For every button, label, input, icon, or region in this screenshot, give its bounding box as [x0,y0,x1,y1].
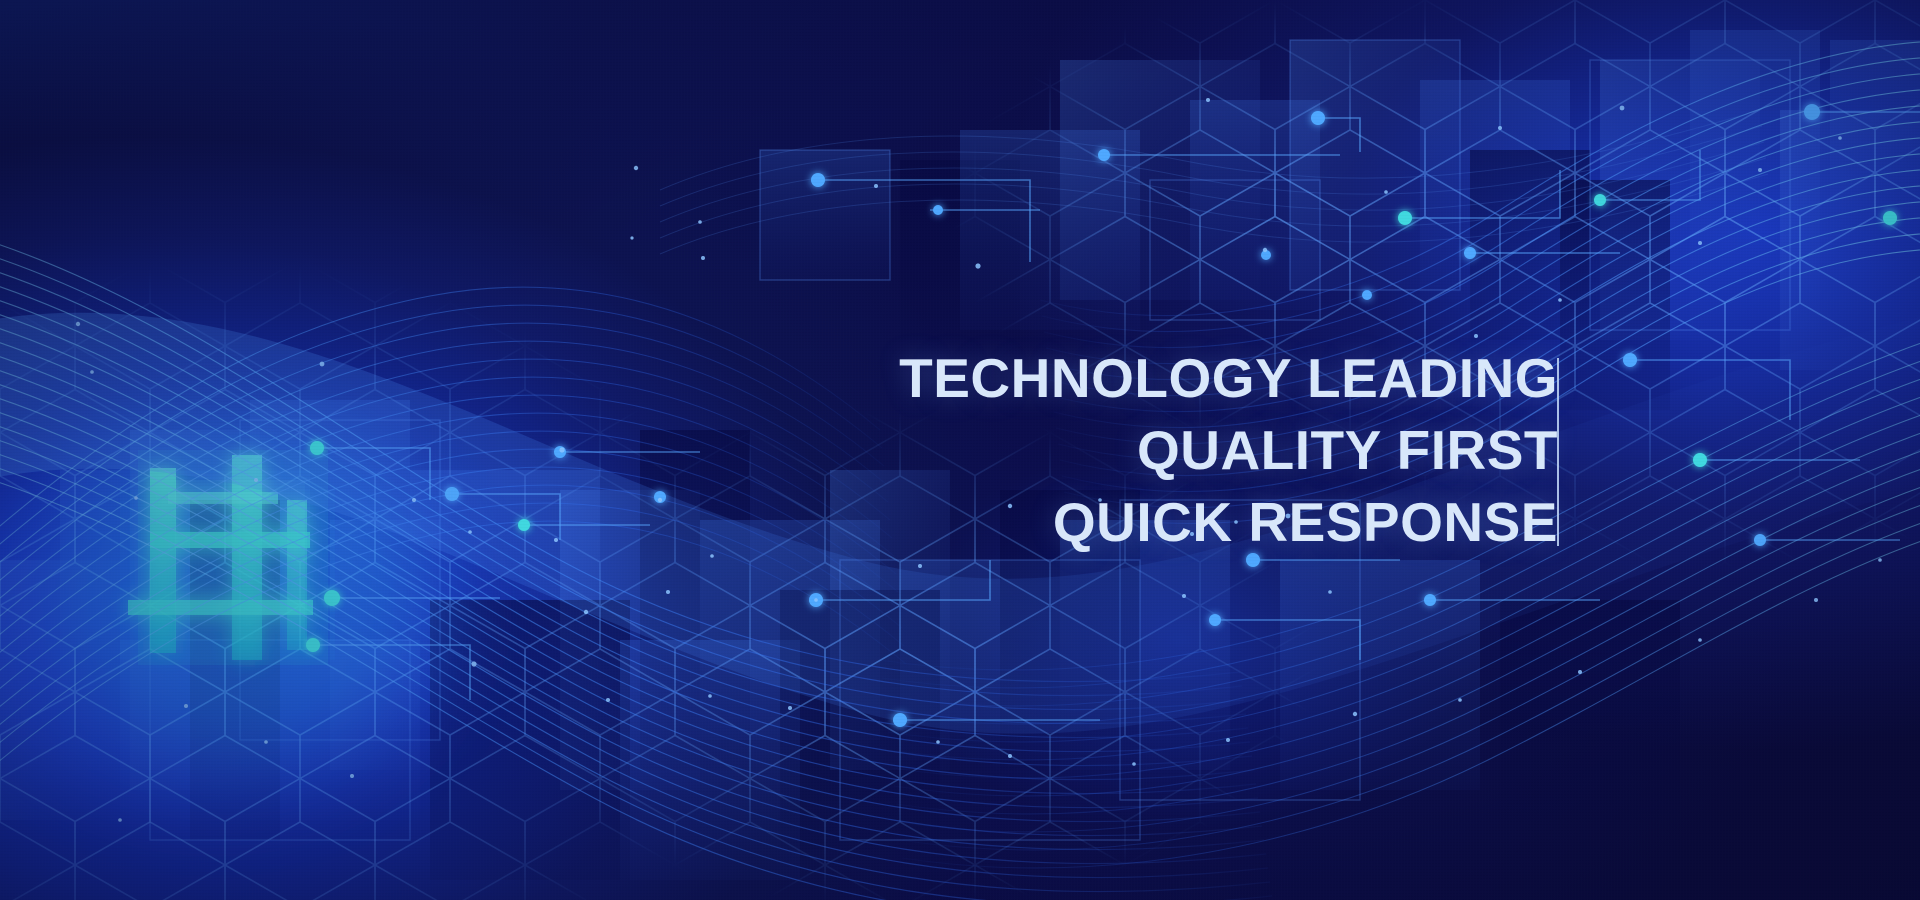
headline-line-1: TECHNOLOGY LEADING [0,342,1558,414]
headline-line-3: QUICK RESPONSE [0,486,1558,558]
wave-fan-top-center [660,110,1768,254]
headline-line-2: QUALITY FIRST [0,414,1558,486]
block-group-top [760,40,1590,340]
headline-vertical-rule [1557,358,1559,546]
block-group-right [1560,30,1920,410]
block-group-bottom [430,560,1680,880]
wave-fan-left [0,232,1274,900]
banner-root: TECHNOLOGY LEADING QUALITY FIRST QUICK R… [0,0,1920,900]
headline-block: TECHNOLOGY LEADING QUALITY FIRST QUICK R… [0,342,1558,558]
